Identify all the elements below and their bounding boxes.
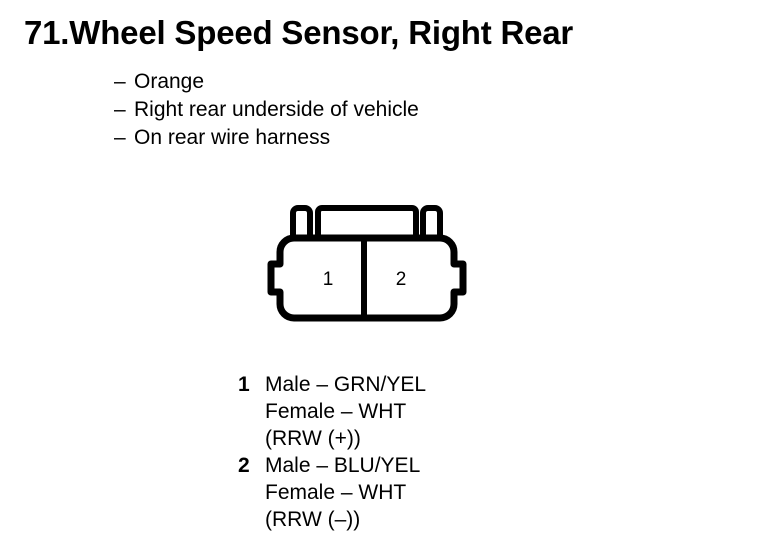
list-item-label: Right rear underside of vehicle xyxy=(134,96,419,124)
pin-legend-index: 1 xyxy=(238,371,265,398)
list-item-label: On rear wire harness xyxy=(134,124,330,152)
connector-cavity-label-1: 1 xyxy=(323,269,334,290)
page-title: 71. Wheel Speed Sensor, Right Rear xyxy=(24,14,754,52)
dash-bullet-icon: – xyxy=(114,124,134,152)
pin-legend-index: 2 xyxy=(238,452,265,479)
pin-legend-line: Female – WHT xyxy=(265,479,420,506)
pin-legend-line: (RRW (–)) xyxy=(265,506,420,533)
list-item: – Orange xyxy=(114,68,419,96)
pin-legend: 1 Male – GRN/YEL Female – WHT (RRW (+)) … xyxy=(238,371,426,533)
connector-cavity-label-2: 2 xyxy=(396,269,407,290)
pin-legend-detail: Male – GRN/YEL Female – WHT (RRW (+)) xyxy=(265,371,426,452)
connector-diagram: 1 2 xyxy=(258,200,488,328)
page-title-number: 71. xyxy=(24,14,69,52)
dash-bullet-icon: – xyxy=(114,68,134,96)
list-item: – Right rear underside of vehicle xyxy=(114,96,419,124)
list-item: – On rear wire harness xyxy=(114,124,419,152)
pin-legend-line: Male – GRN/YEL xyxy=(265,371,426,398)
pin-legend-entry: 2 Male – BLU/YEL Female – WHT (RRW (–)) xyxy=(238,452,426,533)
pin-legend-entry: 1 Male – GRN/YEL Female – WHT (RRW (+)) xyxy=(238,371,426,452)
list-item-label: Orange xyxy=(134,68,204,96)
page-title-text: Wheel Speed Sensor, Right Rear xyxy=(69,14,573,52)
pin-legend-detail: Male – BLU/YEL Female – WHT (RRW (–)) xyxy=(265,452,420,533)
connector-face-drawing: 1 2 xyxy=(258,200,488,328)
dash-bullet-icon: – xyxy=(114,96,134,124)
pin-legend-line: Female – WHT xyxy=(265,398,426,425)
attribute-list: – Orange – Right rear underside of vehic… xyxy=(114,68,419,152)
pin-legend-line: Male – BLU/YEL xyxy=(265,452,420,479)
pin-legend-line: (RRW (+)) xyxy=(265,425,426,452)
